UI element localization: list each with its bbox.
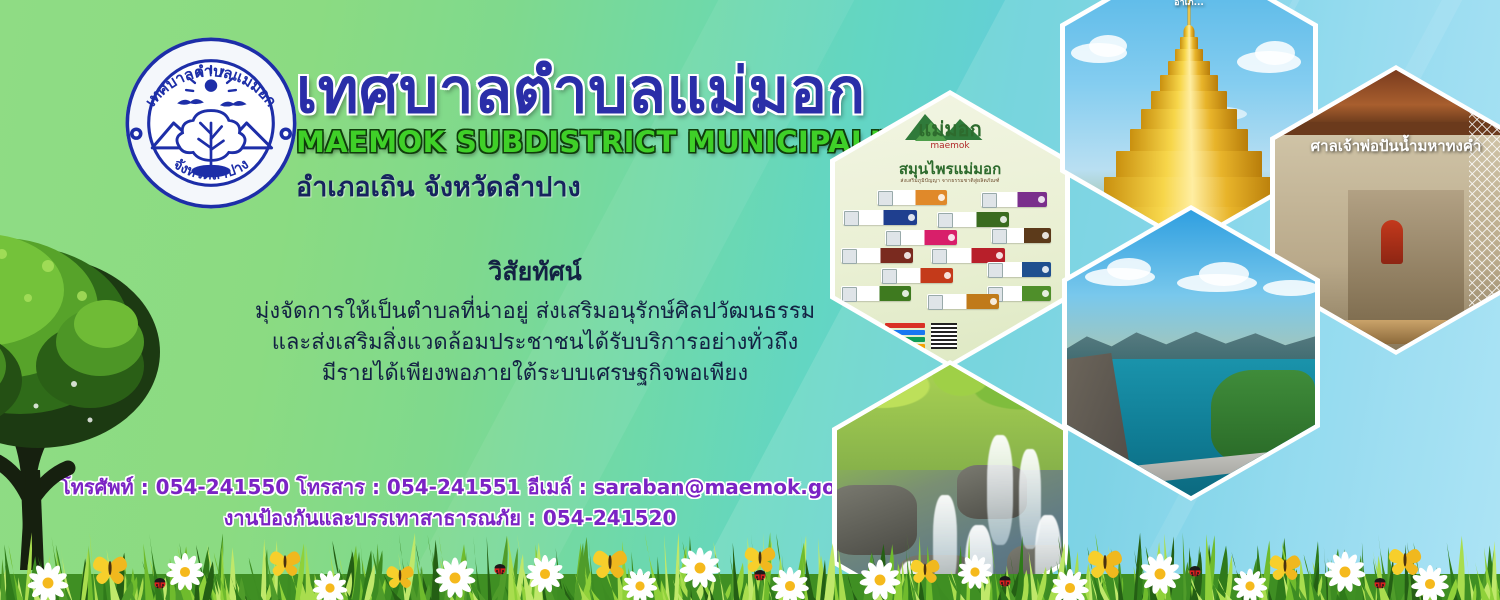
ladybug	[1000, 576, 1011, 586]
grass-decoration-strip	[0, 528, 1500, 600]
maemok-brand-logo-icon: แม่มอก maemok	[895, 105, 1005, 155]
chedi-structure	[1094, 0, 1284, 239]
shrine-beam	[1275, 122, 1500, 135]
tree-illustration	[0, 170, 220, 570]
vision-line-1: มุ่งจัดการให้เป็นตำบลที่น่าอยู่ ส่งเสริม…	[250, 296, 820, 327]
product-item	[981, 192, 1047, 207]
product-item	[885, 230, 957, 245]
dam-vegetation	[1211, 370, 1315, 462]
grass-blade	[229, 547, 236, 600]
tree-icon	[0, 170, 220, 570]
grass-blade	[824, 543, 835, 600]
product-item	[931, 248, 1005, 263]
svg-text:maemok: maemok	[930, 141, 970, 151]
svg-text:แม่มอก: แม่มอก	[918, 117, 981, 141]
qr-code-icon	[931, 323, 957, 349]
vision-heading: วิสัยทัศน์	[250, 252, 820, 292]
product-item	[987, 262, 1051, 277]
poster-social-icons	[885, 323, 925, 349]
product-item	[877, 190, 947, 205]
shrine-niche	[1348, 190, 1464, 332]
vision-line-2: และส่งเสริมสิ่งแวดล้อมประชาชนได้รับบริกา…	[250, 327, 820, 358]
product-item	[843, 210, 917, 225]
shrine-statue	[1381, 220, 1403, 264]
product-item	[881, 268, 953, 283]
grass-blade	[674, 533, 679, 600]
butterfly	[270, 551, 301, 576]
shrine-offering-table	[1333, 320, 1473, 344]
herbal-product-grid	[841, 190, 1059, 310]
butterfly	[593, 551, 627, 578]
butterfly	[1088, 551, 1122, 578]
shrine-wire-mesh	[1469, 100, 1500, 310]
ladybug	[1190, 566, 1201, 576]
municipality-banner: เทศบาลตำบลแม่มอก จังหวัดลำปาง	[0, 0, 1500, 600]
ladybug	[495, 564, 506, 574]
ladybug	[155, 578, 166, 588]
herbal-poster-image: แม่มอก maemok สมุนไพรแม่มอก ส่งเสริมภูมิ…	[835, 95, 1065, 363]
product-item	[991, 228, 1051, 243]
ladybug	[1375, 578, 1386, 588]
product-item	[841, 248, 913, 263]
product-item	[937, 212, 1009, 227]
ladybug	[755, 570, 766, 580]
vision-line-3: มีรายได้เพียงพอภายใต้ระบบเศรษฐกิจพอเพียง	[250, 358, 820, 389]
hexagon-herbal-poster[interactable]: แม่มอก maemok สมุนไพรแม่มอก ส่งเสริมภูมิ…	[830, 90, 1070, 368]
product-item	[841, 286, 911, 301]
grass-icon	[0, 528, 1500, 600]
herbal-poster-tagline: ส่งเสริมภูมิปัญญา จากธรรมชาติสู่ผลิตภัณฑ…	[835, 177, 1065, 185]
hexagon-photo-collage: แม่มอก maemok สมุนไพรแม่มอก ส่งเสริมภูมิ…	[770, 0, 1500, 570]
grass-blade	[261, 539, 266, 600]
vision-statement: วิสัยทัศน์ มุ่งจัดการให้เป็นตำบลที่น่าอย…	[250, 252, 820, 390]
product-item	[927, 294, 999, 309]
